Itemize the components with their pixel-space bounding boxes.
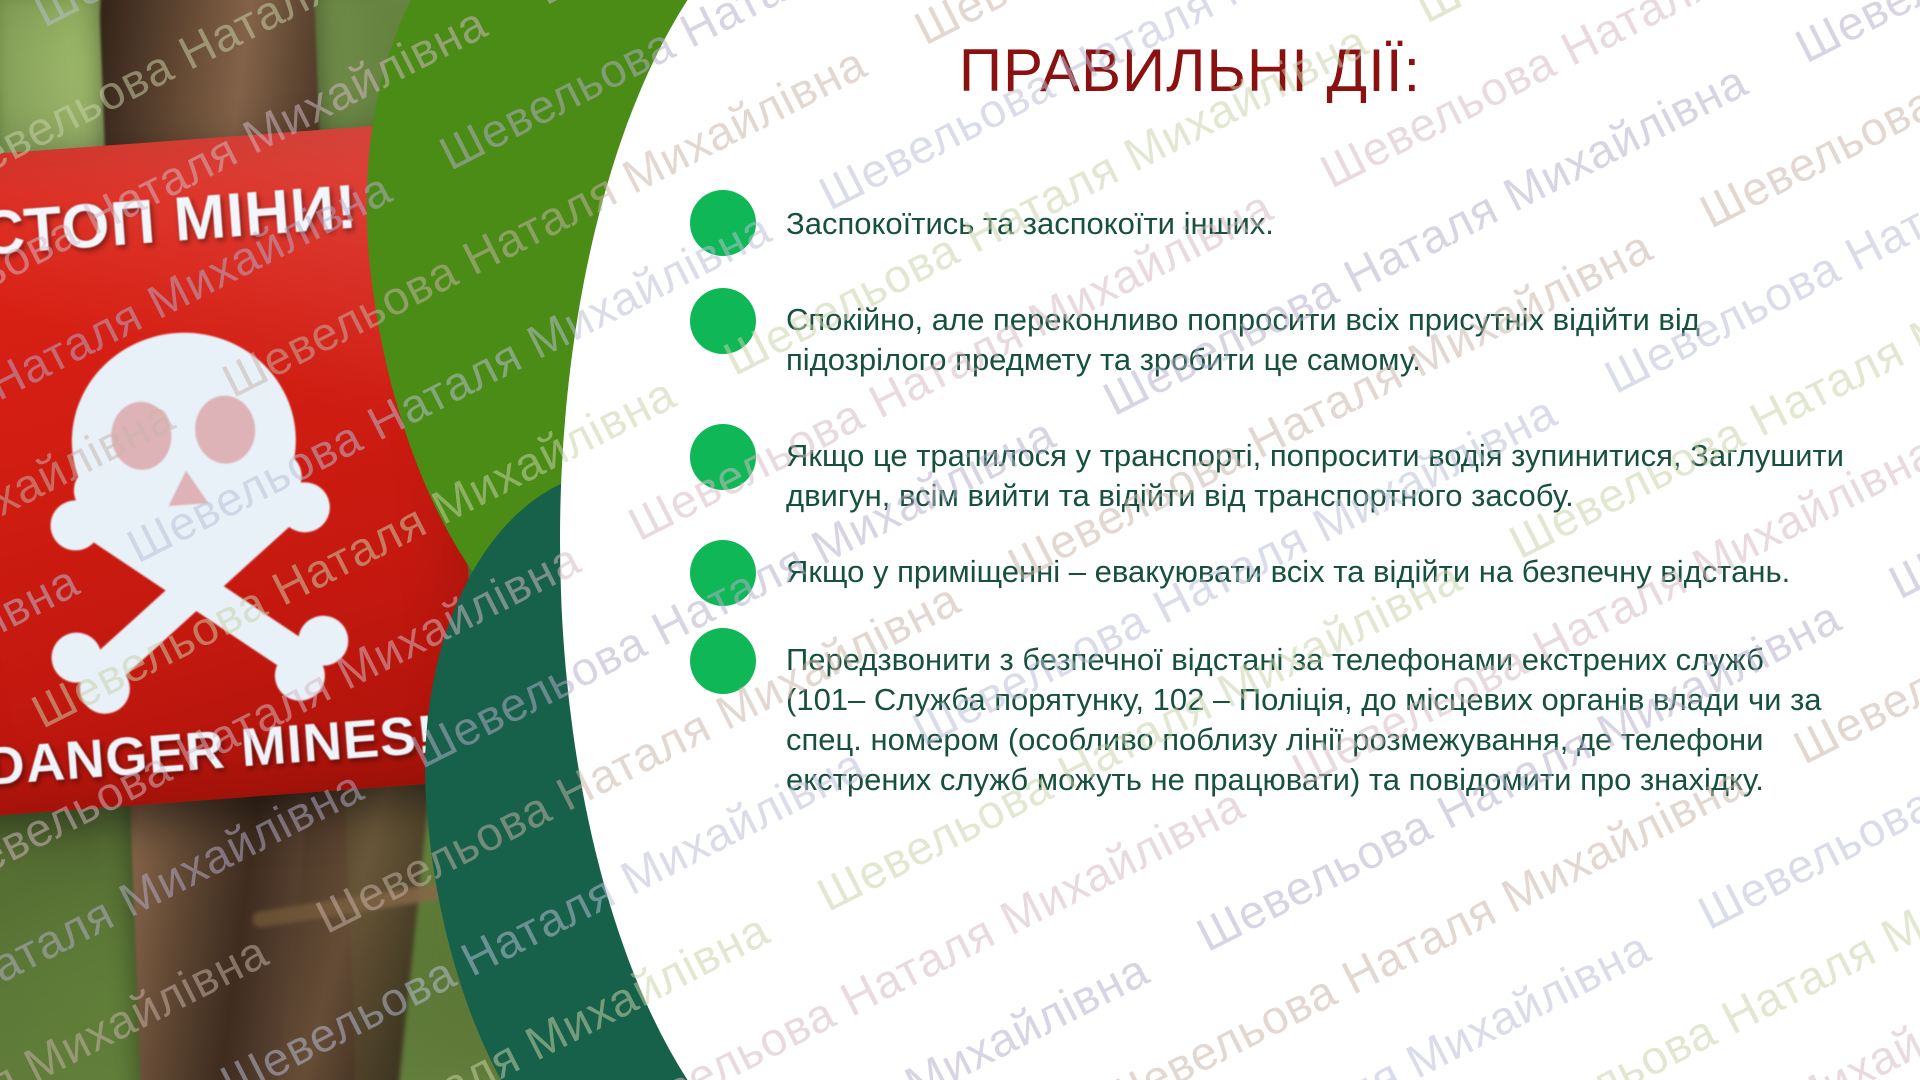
- list-item: Передзвонити з безпечної відстані за тел…: [690, 626, 1870, 800]
- bullet-text: Передзвонити з безпечної відстані за тел…: [786, 626, 1846, 800]
- bullet-text: Спокійно, але переконливо попросити всіх…: [786, 286, 1846, 380]
- bullet-text: Якщо це трапилося у транспорті, попросит…: [786, 422, 1846, 516]
- page-title: ПРАВИЛЬНІ ДІЇ:: [690, 36, 1690, 105]
- bullet-dot-icon: [690, 628, 756, 694]
- list-item: Якщо у приміщенні – евакуювати всіх та в…: [690, 538, 1870, 606]
- skull-and-crossbones-icon: [15, 309, 363, 731]
- content-area: ПРАВИЛЬНІ ДІЇ: Заспокоїтись та заспокоїт…: [690, 0, 1920, 1080]
- list-item: Якщо це трапилося у транспорті, попросит…: [690, 422, 1870, 516]
- slide-canvas: СТОП МІНИ!: [0, 0, 1920, 1080]
- bullet-dot-icon: [690, 288, 756, 354]
- list-item: Заспокоїтись та заспокоїти інших.: [690, 190, 1870, 256]
- bullet-text: Якщо у приміщенні – евакуювати всіх та в…: [786, 538, 1790, 592]
- bullet-dot-icon: [690, 540, 756, 606]
- bullet-dot-icon: [690, 424, 756, 490]
- bullet-list: Заспокоїтись та заспокоїти інших. Спокій…: [690, 190, 1870, 814]
- bullet-dot-icon: [690, 190, 756, 256]
- list-item: Спокійно, але переконливо попросити всіх…: [690, 286, 1870, 380]
- bullet-text: Заспокоїтись та заспокоїти інших.: [786, 190, 1274, 244]
